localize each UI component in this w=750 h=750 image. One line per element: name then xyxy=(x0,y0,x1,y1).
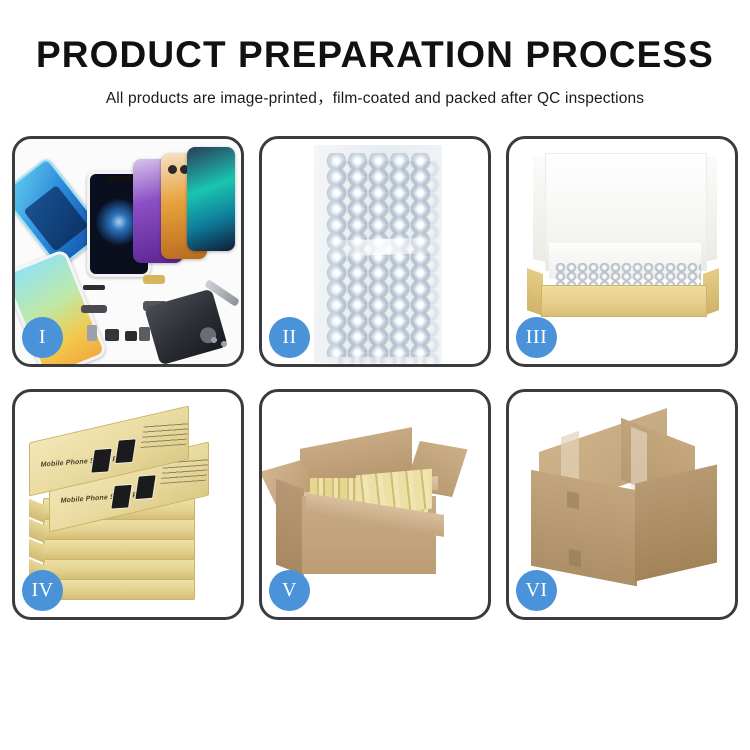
step-badge-2: II xyxy=(269,317,310,358)
carton-seam-lower xyxy=(569,549,581,567)
speaker-module-part xyxy=(105,329,119,341)
bubble-grid-shadow xyxy=(336,161,440,364)
box-lid-screen-graphic-a xyxy=(90,448,113,474)
process-step-2: II xyxy=(259,136,491,367)
process-step-6: VI xyxy=(506,389,738,620)
process-step-4: Mobile Phone Spare Parts Mobile Phone Sp… xyxy=(12,389,244,620)
button-part xyxy=(125,331,137,341)
process-step-3: III xyxy=(506,136,738,367)
screws-part xyxy=(211,337,229,347)
process-step-5: V xyxy=(259,389,491,620)
flex-cable-part-a xyxy=(143,275,165,284)
box-lid-screen-graphic-d xyxy=(134,474,157,500)
box-front-panel xyxy=(541,285,707,317)
flex-cable-part-b xyxy=(81,305,107,313)
carton-front-face xyxy=(531,470,637,587)
stacked-box-bottom-1 xyxy=(43,578,195,600)
step-badge-5: V xyxy=(269,570,310,611)
step-badge-4: IV xyxy=(22,570,63,611)
carton-left-side xyxy=(276,479,304,576)
stacked-box-bottom-3 xyxy=(43,538,195,560)
page-subtitle: All products are image-printed，film-coat… xyxy=(0,86,750,108)
box-lid-screen-graphic-c xyxy=(110,484,133,510)
step-badge-1: I xyxy=(22,317,63,358)
box-lid-screen-graphic-b xyxy=(114,438,137,464)
teal-phone-screen xyxy=(187,147,235,251)
step-badge-6: VI xyxy=(516,570,557,611)
box-lid-text-lines-top xyxy=(140,420,189,448)
page-title: PRODUCT PREPARATION PROCESS xyxy=(0,36,750,75)
speaker-bar-part xyxy=(83,285,105,290)
process-step-grid: I II III xyxy=(12,136,738,620)
carton-right-face xyxy=(635,465,717,582)
stacked-box-bottom-2 xyxy=(43,558,195,580)
battery-connector-part xyxy=(139,327,150,341)
page-header: PRODUCT PREPARATION PROCESS All products… xyxy=(0,0,750,108)
carton-seam-upper xyxy=(567,491,579,509)
step-badge-3: III xyxy=(516,317,557,358)
camera-module-part xyxy=(87,325,97,341)
process-step-1: I xyxy=(12,136,244,367)
